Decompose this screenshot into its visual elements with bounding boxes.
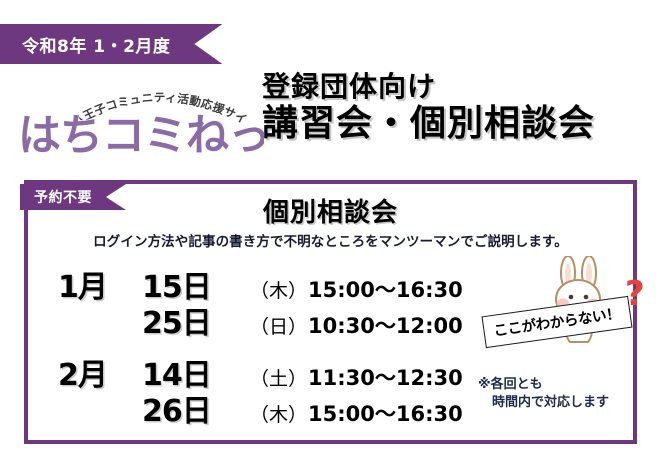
section-description: ログイン方法や記事の書き方で不明なところをマンツーマンでご説明します。 xyxy=(28,230,633,250)
schedule-month: 1月 xyxy=(58,262,142,306)
schedule-weekday: （土） xyxy=(250,364,308,391)
consultation-panel: 個別相談会 ログイン方法や記事の書き方で不明なところをマンツーマンでご説明します… xyxy=(24,180,637,444)
schedule-weekday: （木） xyxy=(250,276,308,303)
title-subtitle: 登録団体向け xyxy=(262,72,662,101)
schedule-weekday: （木） xyxy=(250,400,308,427)
schedule-group-february: 2月 14日 （土） 11:30〜12:30 26日 （木） 15:00〜16:… xyxy=(58,350,478,422)
schedule-time: 11:30〜12:30 xyxy=(308,362,463,392)
schedule-day: 25日 xyxy=(142,298,250,342)
schedule-day: 26日 xyxy=(142,386,250,430)
logo-wordmark-text: はちコミねっと xyxy=(18,111,264,161)
schedule-time: 15:00〜16:30 xyxy=(308,398,463,428)
schedule-row: 1月 15日 （木） 15:00〜16:30 xyxy=(58,262,478,298)
no-reservation-badge-label: 予約不要 xyxy=(34,187,92,207)
logo-wordmark: はちコミねっと xyxy=(16,104,264,164)
footnote-line-2: 時間内で対応します xyxy=(478,394,609,412)
schedule-time: 15:00〜16:30 xyxy=(308,274,463,304)
period-ribbon: 令和8年 1・2月度 xyxy=(0,24,222,64)
period-ribbon-label: 令和8年 1・2月度 xyxy=(22,32,170,57)
schedule-time: 10:30〜12:00 xyxy=(308,310,463,340)
title-block: 登録団体向け 講習会・個別相談会 xyxy=(262,72,662,145)
section-heading: 個別相談会 xyxy=(28,192,633,229)
footnote-line-1: ※各回とも xyxy=(478,377,543,392)
schedule-list: 1月 15日 （木） 15:00〜16:30 25日 （日） 10:30〜12:… xyxy=(58,262,478,438)
title-main: 講習会・個別相談会 xyxy=(262,103,662,144)
header: 八王子コミュニティ活動応援サイト はちコミねっと 登録団体向け 講習会・個別相談… xyxy=(0,72,666,170)
schedule-weekday: （日） xyxy=(250,312,308,339)
site-logo[interactable]: 八王子コミュニティ活動応援サイト はちコミねっと xyxy=(14,82,264,166)
footnote: ※各回とも 時間内で対応します xyxy=(478,376,609,411)
schedule-group-january: 1月 15日 （木） 15:00〜16:30 25日 （日） 10:30〜12:… xyxy=(58,262,478,334)
schedule-row: 2月 14日 （土） 11:30〜12:30 xyxy=(58,350,478,386)
schedule-month: 2月 xyxy=(58,350,142,394)
